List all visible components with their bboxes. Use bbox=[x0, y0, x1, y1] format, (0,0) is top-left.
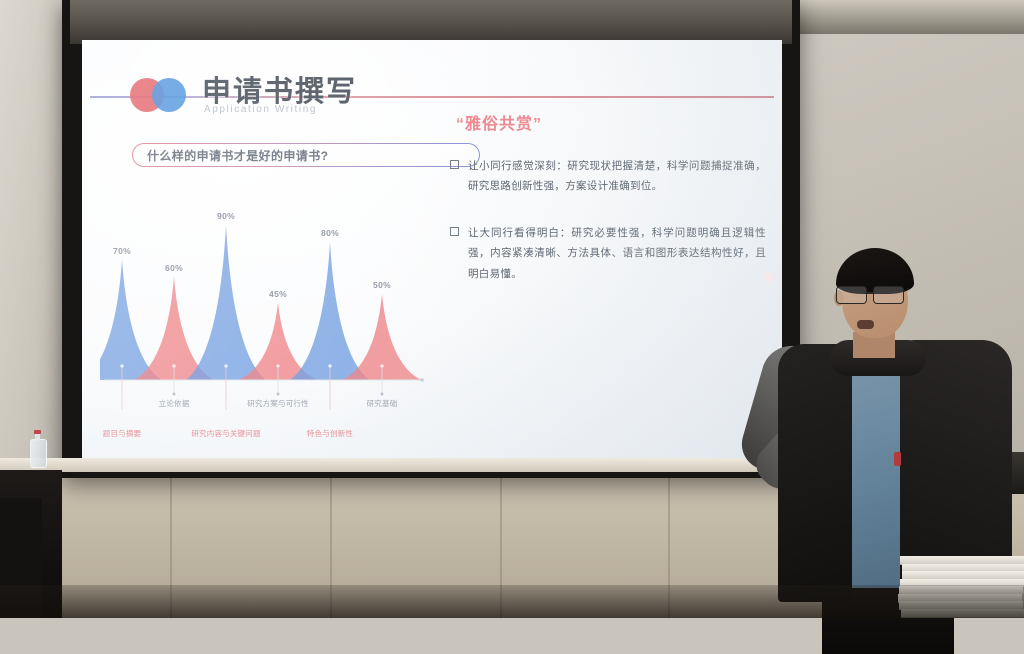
glasses-lens-right bbox=[873, 286, 904, 304]
chart-spike bbox=[186, 225, 266, 380]
scene-root: 申请书撰写 Application Writing 什么样的申请书才是好的申请书… bbox=[0, 0, 1024, 618]
presenter-mouth bbox=[857, 320, 874, 329]
chart-svg bbox=[100, 180, 430, 410]
screen-ledge bbox=[0, 458, 800, 472]
spike-marker-dot bbox=[276, 364, 279, 367]
logo-circle-blue-icon bbox=[152, 78, 186, 112]
chart-value-label: 45% bbox=[269, 289, 287, 299]
chart-category-label: 立论依据 bbox=[159, 398, 190, 409]
question-pill-text: 什么样的申请书才是好的申请书? bbox=[147, 147, 328, 164]
bottle-body bbox=[30, 439, 47, 468]
question-pill: 什么样的申请书才是好的申请书? bbox=[132, 143, 480, 167]
spike-marker-dot bbox=[224, 364, 227, 367]
glasses-bridge bbox=[865, 292, 873, 294]
leader-end-dot bbox=[277, 393, 280, 396]
baseline-end-dot bbox=[420, 378, 424, 382]
chart-category-label: 研究内容与关键问题 bbox=[191, 428, 260, 439]
projection-screen-top-shadow bbox=[70, 0, 792, 44]
leader-end-dot bbox=[173, 393, 176, 396]
chart-value-label: 60% bbox=[165, 263, 183, 273]
chart-category-label: 研究方案与可行性 bbox=[247, 398, 309, 409]
chart-spike bbox=[290, 242, 370, 380]
spike-marker-dot bbox=[328, 364, 331, 367]
chart-value-label: 50% bbox=[373, 280, 391, 290]
spike-marker-dot bbox=[120, 364, 123, 367]
bullet-text: 让小同行感觉深刻：研究现状把握清楚，科学问题捕捉准确，研究思路创新性强，方案设计… bbox=[468, 156, 766, 197]
spike-area-chart: 70%60%90%45%80%50% 题目与摘要立论依据研究内容与关键问题研究方… bbox=[100, 180, 430, 450]
chart-value-label: 80% bbox=[321, 228, 339, 238]
chart-category-label: 题目与摘要 bbox=[103, 428, 142, 439]
bullet-item: 让小同行感觉深刻：研究现状把握清楚，科学问题捕捉准确，研究思路创新性强，方案设计… bbox=[450, 156, 766, 197]
square-bullet-icon bbox=[450, 160, 459, 169]
projected-slide: 申请书撰写 Application Writing 什么样的申请书才是好的申请书… bbox=[82, 40, 782, 464]
bottle-neck bbox=[35, 433, 40, 441]
quote-heading: “雅俗共赏” bbox=[456, 110, 766, 134]
square-bullet-icon bbox=[450, 227, 459, 236]
leader-end-dot bbox=[381, 393, 384, 396]
bottle-cap bbox=[34, 430, 41, 434]
water-bottle bbox=[30, 430, 45, 466]
chart-value-label: 70% bbox=[113, 246, 131, 256]
presenter-lapel-badge bbox=[894, 452, 901, 466]
laser-pointer-dot-icon bbox=[764, 272, 774, 282]
glasses-lens-left bbox=[836, 286, 867, 304]
floor-shadow bbox=[0, 585, 1024, 618]
presenter-jacket-left bbox=[778, 344, 852, 602]
spike-marker-dot bbox=[172, 364, 175, 367]
chart-category-label: 研究基础 bbox=[367, 398, 398, 409]
two-circles-logo-icon bbox=[130, 76, 194, 116]
chart-value-label: 90% bbox=[217, 211, 235, 221]
ceiling-right bbox=[790, 0, 1024, 34]
spike-marker-dot bbox=[380, 364, 383, 367]
slide-subtitle: Application Writing bbox=[204, 104, 317, 115]
eyeglasses-icon bbox=[836, 286, 916, 302]
chart-category-label: 特色与创新性 bbox=[307, 428, 353, 439]
